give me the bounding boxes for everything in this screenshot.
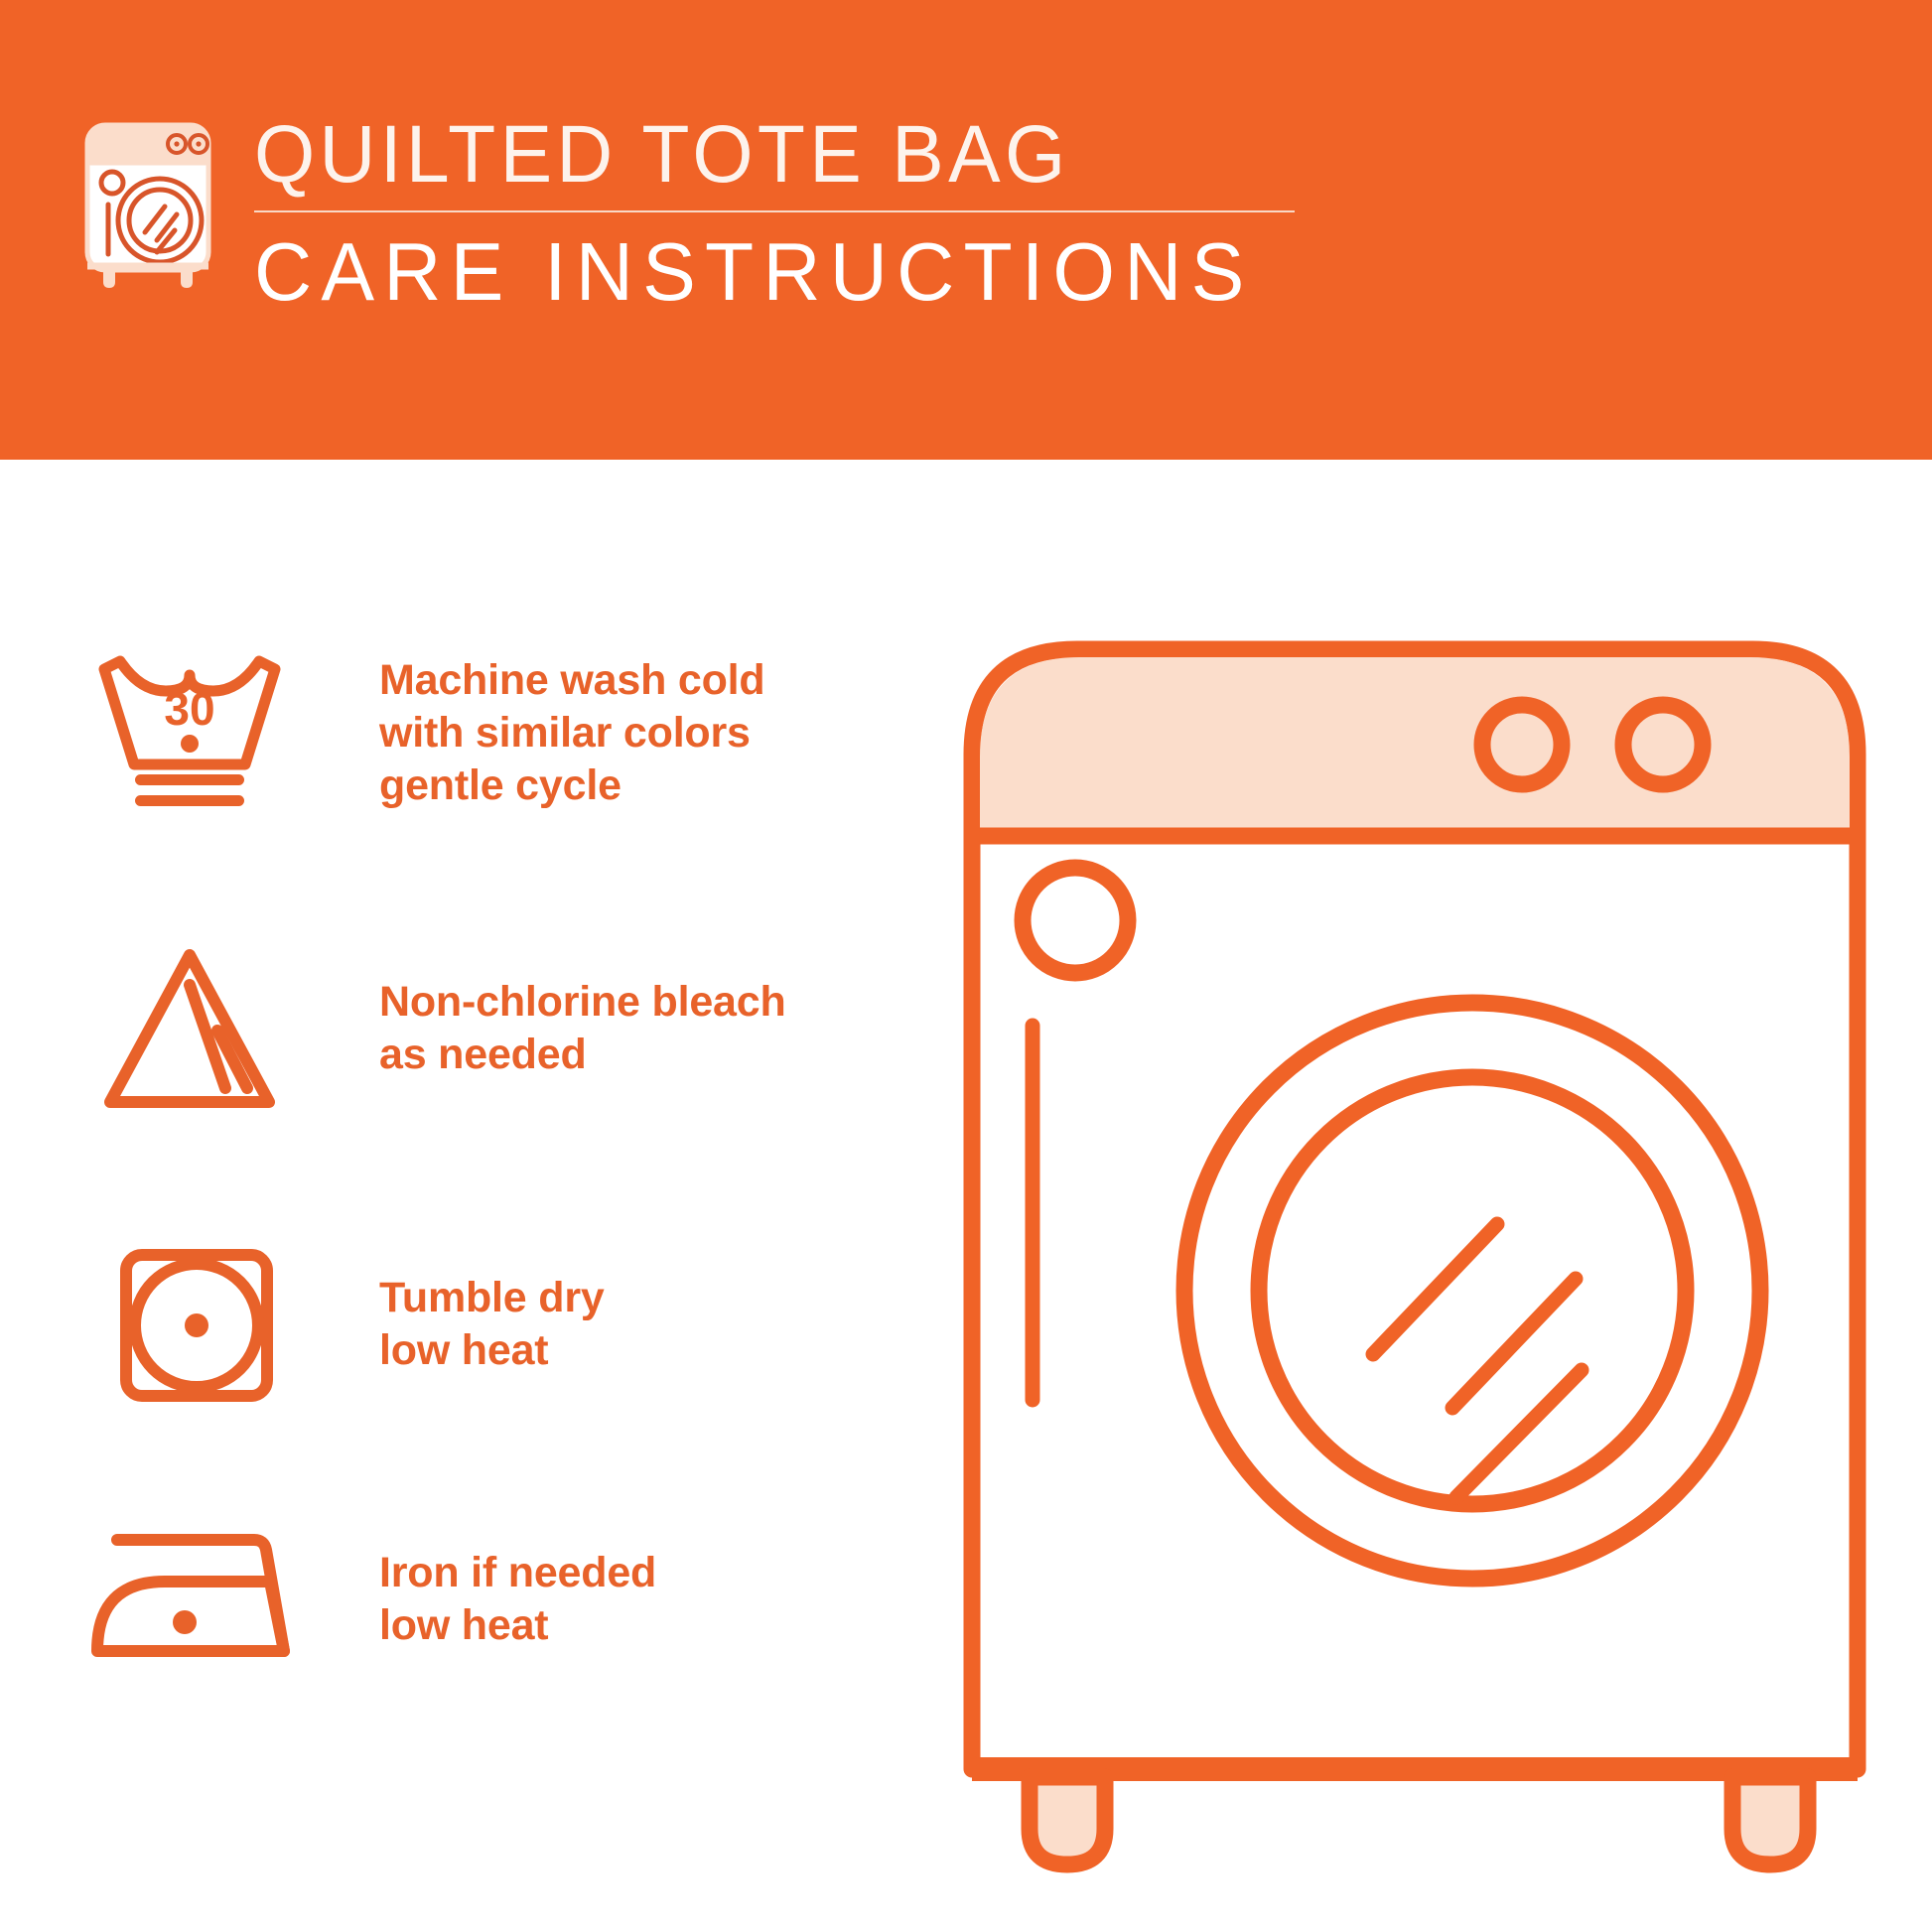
care-item-label: Machine wash cold with similar colors ge…	[379, 654, 764, 812]
care-line: Tumble dry	[379, 1272, 605, 1324]
care-line: with similar colors	[379, 707, 764, 759]
washing-machine-illustration	[958, 635, 1871, 1876]
non-chlorine-bleach-triangle-icon	[85, 934, 294, 1123]
care-item-label: Iron if needed low heat	[379, 1547, 656, 1652]
wash-basin-30-gentle-icon: 30	[85, 638, 294, 827]
tumble-dry-low-heat-icon	[85, 1230, 294, 1419]
washing-machine-icon	[77, 115, 218, 290]
leg-right	[1732, 1777, 1808, 1864]
care-item-tumble-dry: Tumble dry low heat	[85, 1230, 909, 1419]
header-divider	[254, 210, 1295, 212]
header-text-block: QUILTED TOTE BAG CARE INSTRUCTIONS	[254, 111, 1287, 318]
wash-temperature-label: 30	[164, 683, 214, 735]
care-item-label: Non-chlorine bleach as needed	[379, 976, 786, 1081]
page-title: QUILTED TOTE BAG	[254, 111, 1245, 199]
care-line: gentle cycle	[379, 759, 764, 812]
care-line: low heat	[379, 1599, 656, 1652]
care-item-iron: Iron if needed low heat	[85, 1505, 909, 1694]
care-line: Iron if needed	[379, 1547, 656, 1599]
control-panel	[980, 657, 1850, 834]
care-line: Non-chlorine bleach	[379, 976, 786, 1029]
knob-left[interactable]	[1482, 705, 1562, 784]
care-item-bleach: Non-chlorine bleach as needed	[85, 934, 909, 1123]
care-item-label: Tumble dry low heat	[379, 1272, 605, 1377]
care-line: as needed	[379, 1029, 786, 1081]
iron-low-heat-icon	[85, 1505, 294, 1694]
page-subtitle: CARE INSTRUCTIONS	[254, 226, 1256, 318]
care-line: low heat	[379, 1324, 605, 1377]
care-instructions-list: 30 Machine wash cold with similar colors…	[0, 460, 933, 1932]
knob-right[interactable]	[1623, 705, 1703, 784]
header-content: QUILTED TOTE BAG CARE INSTRUCTIONS	[77, 111, 1287, 318]
header-banner: QUILTED TOTE BAG CARE INSTRUCTIONS	[0, 0, 1932, 460]
care-line: Machine wash cold	[379, 654, 764, 707]
care-item-machine-wash: 30 Machine wash cold with similar colors…	[85, 638, 909, 827]
leg-left	[1030, 1777, 1105, 1864]
